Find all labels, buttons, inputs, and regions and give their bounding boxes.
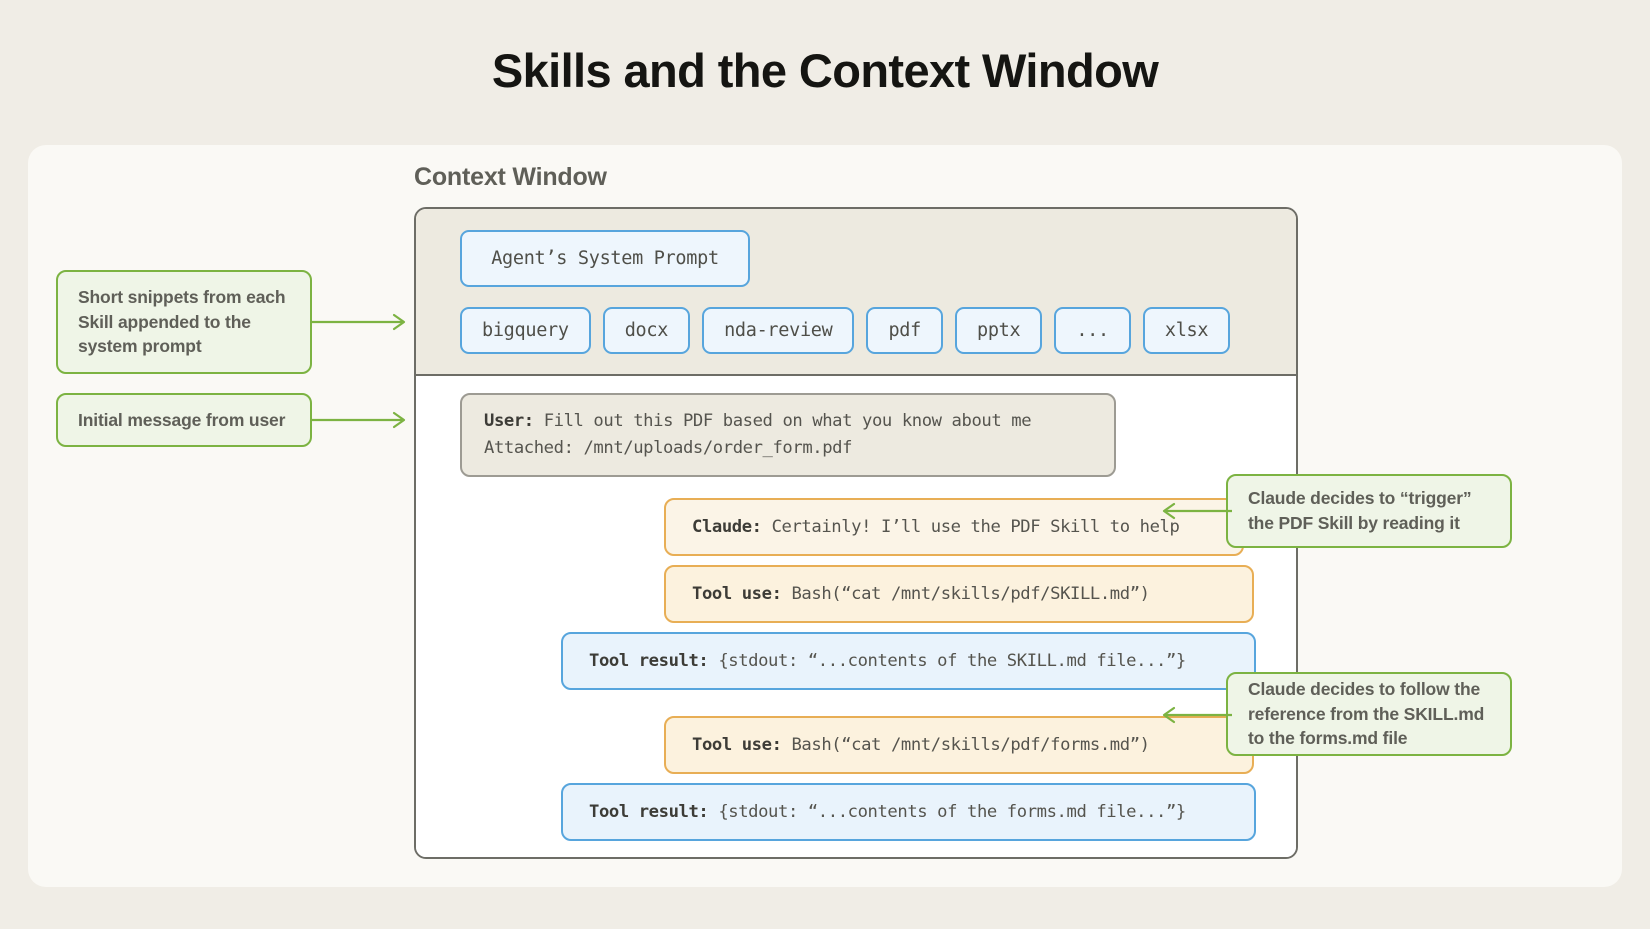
message-tool-use-1-label: Tool use: xyxy=(692,584,782,604)
skill-chip-ellipsis[interactable]: ... xyxy=(1054,307,1131,354)
message-tool-result-2-label: Tool result: xyxy=(589,802,708,822)
arrow-trigger-to-claude xyxy=(1160,494,1240,534)
page-title: Skills and the Context Window xyxy=(0,0,1650,98)
context-window-label: Context Window xyxy=(414,163,607,192)
arrow-follow-to-tooluse xyxy=(1160,698,1240,738)
message-tool-result-1: Tool result: {stdout: “...contents of th… xyxy=(561,632,1256,690)
arrow-initial-to-user xyxy=(310,403,420,443)
message-user-speaker: User: xyxy=(484,411,534,431)
message-user: User: Fill out this PDF based on what yo… xyxy=(460,393,1116,477)
arrow-snippets-to-skills xyxy=(310,305,420,345)
system-prompt-band: Agent’s System Prompt bigquery docx nda-… xyxy=(416,209,1296,376)
skill-chip-xlsx[interactable]: xlsx xyxy=(1143,307,1230,354)
message-tool-use-1: Tool use: Bash(“cat /mnt/skills/pdf/SKIL… xyxy=(664,565,1254,623)
skill-chip-pdf[interactable]: pdf xyxy=(866,307,943,354)
skill-chip-nda-review[interactable]: nda-review xyxy=(702,307,854,354)
message-user-text: Fill out this PDF based on what you know… xyxy=(534,411,1031,431)
callout-skill-snippets: Short snippets from each Skill appended … xyxy=(56,270,312,374)
callout-trigger-skill: Claude decides to “trigger” the PDF Skil… xyxy=(1226,474,1512,548)
skill-chip-row: bigquery docx nda-review pdf pptx ... xl… xyxy=(460,307,1230,354)
message-tool-use-1-text: Bash(“cat /mnt/skills/pdf/SKILL.md”) xyxy=(782,584,1150,604)
skill-chip-docx[interactable]: docx xyxy=(603,307,690,354)
agent-system-prompt-box: Agent’s System Prompt xyxy=(460,230,750,287)
message-tool-use-2-label: Tool use: xyxy=(692,735,782,755)
message-tool-use-2-text: Bash(“cat /mnt/skills/pdf/forms.md”) xyxy=(782,735,1150,755)
skill-chip-bigquery[interactable]: bigquery xyxy=(460,307,591,354)
skill-chip-pptx[interactable]: pptx xyxy=(955,307,1042,354)
callout-initial-message: Initial message from user xyxy=(56,393,312,447)
message-claude-text: Certainly! I’ll use the PDF Skill to hel… xyxy=(762,517,1180,537)
message-tool-result-2: Tool result: {stdout: “...contents of th… xyxy=(561,783,1256,841)
callout-follow-reference: Claude decides to follow the reference f… xyxy=(1226,672,1512,756)
message-claude: Claude: Certainly! I’ll use the PDF Skil… xyxy=(664,498,1244,556)
message-tool-result-2-text: {stdout: “...contents of the forms.md fi… xyxy=(708,802,1186,822)
message-user-attachment: Attached: /mnt/uploads/order_form.pdf xyxy=(484,438,852,458)
message-tool-result-1-label: Tool result: xyxy=(589,651,708,671)
message-claude-speaker: Claude: xyxy=(692,517,762,537)
conversation-area: User: Fill out this PDF based on what yo… xyxy=(416,376,1296,859)
message-tool-result-1-text: {stdout: “...contents of the SKILL.md fi… xyxy=(708,651,1186,671)
